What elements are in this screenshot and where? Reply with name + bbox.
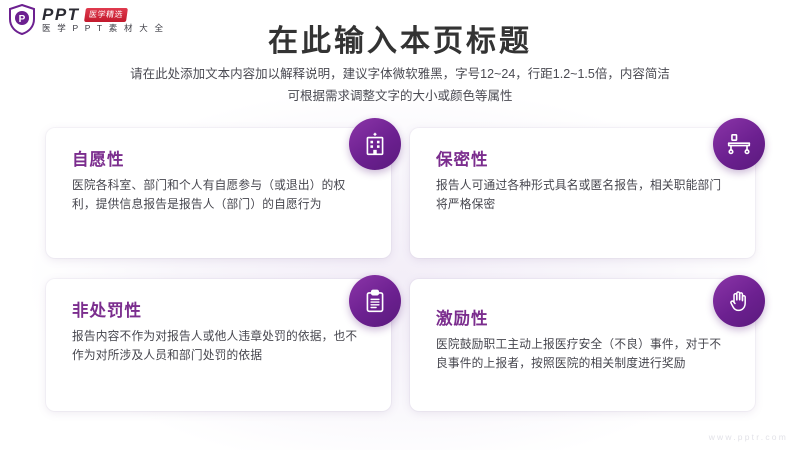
footer-watermark: www.pptr.com bbox=[709, 432, 788, 442]
content-card-voluntary[interactable]: 自愿性 医院各科室、部门和个人有自愿参与（或退出）的权利，提供信息报告是报告人（… bbox=[46, 128, 391, 258]
card-body: 医院各科室、部门和个人有自愿参与（或退出）的权利，提供信息报告是报告人（部门）的… bbox=[72, 177, 367, 215]
page-subtitle: 请在此处添加文本内容加以解释说明，建议字体微软雅黑，字号12~24，行距1.2~… bbox=[0, 64, 800, 108]
content-card-incentive[interactable]: 激励性 医院鼓励职工主动上报医疗安全（不良）事件，对于不良事件的上报者，按照医院… bbox=[410, 279, 755, 411]
card-title: 激励性 bbox=[436, 305, 731, 329]
slide-stage: P PPT 医学精选 医 学 P P T 素 材 大 全 在此输入本页标题 请在… bbox=[0, 0, 800, 450]
clipboard-icon bbox=[349, 275, 401, 327]
raised-hand-icon bbox=[713, 275, 765, 327]
card-title: 自愿性 bbox=[72, 146, 367, 170]
page-subtitle-line-1: 请在此处添加文本内容加以解释说明，建议字体微软雅黑，字号12~24，行距1.2~… bbox=[0, 64, 800, 86]
content-card-confidential[interactable]: 保密性 报告人可通过各种形式具名或匿名报告，相关职能部门将严格保密 bbox=[410, 128, 755, 258]
hospital-building-icon bbox=[349, 118, 401, 170]
card-body: 报告内容不作为对报告人或他人违章处罚的依据，也不作为对所涉及人员和部门处罚的依据 bbox=[72, 328, 367, 366]
hospital-bed-icon bbox=[713, 118, 765, 170]
page-subtitle-line-2: 可根据需求调整文字的大小或颜色等属性 bbox=[0, 86, 800, 108]
card-body: 报告人可通过各种形式具名或匿名报告，相关职能部门将严格保密 bbox=[436, 177, 731, 215]
content-card-non-punitive[interactable]: 非处罚性 报告内容不作为对报告人或他人违章处罚的依据，也不作为对所涉及人员和部门… bbox=[46, 279, 391, 411]
card-body: 医院鼓励职工主动上报医疗安全（不良）事件，对于不良事件的上报者，按照医院的相关制… bbox=[436, 336, 731, 374]
card-title: 保密性 bbox=[436, 146, 731, 170]
page-title: 在此输入本页标题 bbox=[0, 16, 800, 60]
card-title: 非处罚性 bbox=[72, 297, 367, 321]
